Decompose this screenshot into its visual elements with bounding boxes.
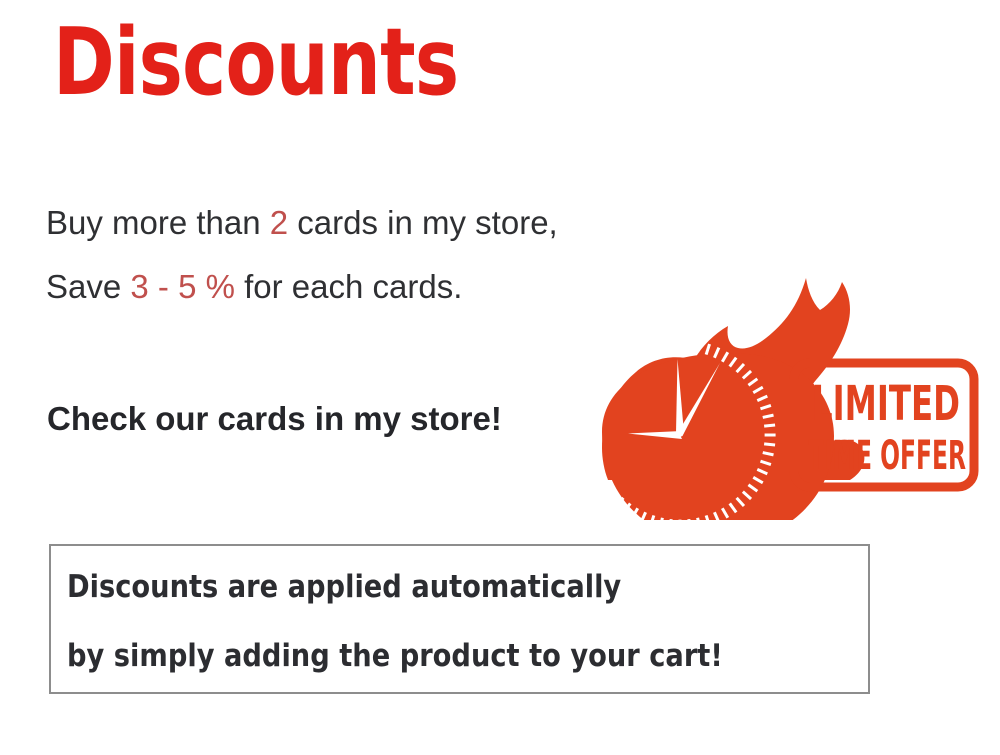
offer-line-savings-part2: for each cards. <box>235 268 462 305</box>
offer-line-quantity-part1: Buy more than <box>46 204 270 241</box>
offer-line-savings-part1: Save <box>46 268 130 305</box>
promo-banner: Discounts Buy more than 2 cards in my st… <box>0 0 1000 755</box>
page-title: Discounts <box>53 16 458 109</box>
offer-quantity-value: 2 <box>270 204 288 241</box>
offer-line-quantity: Buy more than 2 cards in my store, <box>46 206 558 239</box>
offer-line-quantity-part2: cards in my store, <box>288 204 558 241</box>
offer-line-savings: Save 3 - 5 % for each cards. <box>46 270 462 303</box>
callout-line-1: Discounts are applied automatically <box>67 572 621 603</box>
badge-line-1: LIMITED <box>812 376 960 432</box>
badge-line-2: TIME OFFER <box>808 433 966 479</box>
offer-savings-value: 3 - 5 % <box>130 268 235 305</box>
auto-discount-callout-box: Discounts are applied automatically by s… <box>49 544 870 694</box>
store-call-to-action: Check our cards in my store! <box>47 402 502 435</box>
limited-time-offer-badge: LIMITED TIME OFFER <box>598 262 988 520</box>
callout-line-2: by simply adding the product to your car… <box>67 641 723 672</box>
